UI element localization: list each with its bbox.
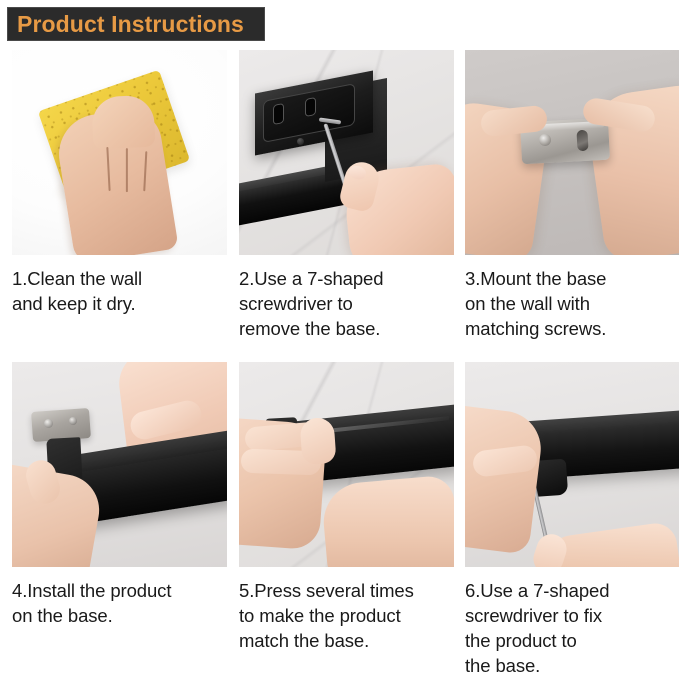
metal-base-plate xyxy=(31,408,91,442)
header-banner: Product Instructions xyxy=(7,7,265,41)
photo-fix-product-with-allen-key xyxy=(465,362,679,567)
mounting-slot xyxy=(305,97,316,117)
hand-right xyxy=(320,474,454,567)
step-item-4: 4.Install the product on the base. xyxy=(12,362,227,686)
thumb xyxy=(299,417,336,465)
finger-crease xyxy=(126,148,128,192)
finger-crease xyxy=(106,147,110,191)
step-caption-5: 5.Press several times to make the produc… xyxy=(239,578,454,653)
finger-crease xyxy=(143,151,147,191)
step-caption-2: 2.Use a 7-shaped screwdriver to remove t… xyxy=(239,266,454,341)
step-caption-4: 4.Install the product on the base. xyxy=(12,578,227,628)
step-caption-3: 3.Mount the base on the wall with matchi… xyxy=(465,266,679,341)
step-item-6: 6.Use a 7-shaped screwdriver to fix the … xyxy=(465,362,679,686)
photo-install-product-on-base xyxy=(12,362,227,567)
steps-row-1: 1.Clean the wall and keep it dry. 2.Us xyxy=(0,50,679,358)
photo-mount-base-on-wall xyxy=(465,50,679,255)
step-item-5: 5.Press several times to make the produc… xyxy=(239,362,454,686)
steps-row-2: 4.Install the product on the base. 5.Pre… xyxy=(0,362,679,686)
screw-hole-slot xyxy=(576,130,588,152)
step-item-3: 3.Mount the base on the wall with matchi… xyxy=(465,50,679,358)
screw-hole xyxy=(44,419,53,428)
photo-remove-base-with-allen-key xyxy=(239,50,454,255)
photo-press-product-to-match-base xyxy=(239,362,454,567)
step-caption-6: 6.Use a 7-shaped screwdriver to fix the … xyxy=(465,578,679,678)
screw-hole xyxy=(69,417,77,425)
step-item-2: 2.Use a 7-shaped screwdriver to remove t… xyxy=(239,50,454,358)
photo-clean-wall-with-sponge xyxy=(12,50,227,255)
page-title: Product Instructions xyxy=(17,11,244,38)
set-screw xyxy=(297,138,304,145)
step-caption-1: 1.Clean the wall and keep it dry. xyxy=(12,266,227,316)
mounting-slot xyxy=(273,103,284,125)
step-item-1: 1.Clean the wall and keep it dry. xyxy=(12,50,227,358)
instruction-steps-grid: 1.Clean the wall and keep it dry. 2.Us xyxy=(0,50,679,686)
